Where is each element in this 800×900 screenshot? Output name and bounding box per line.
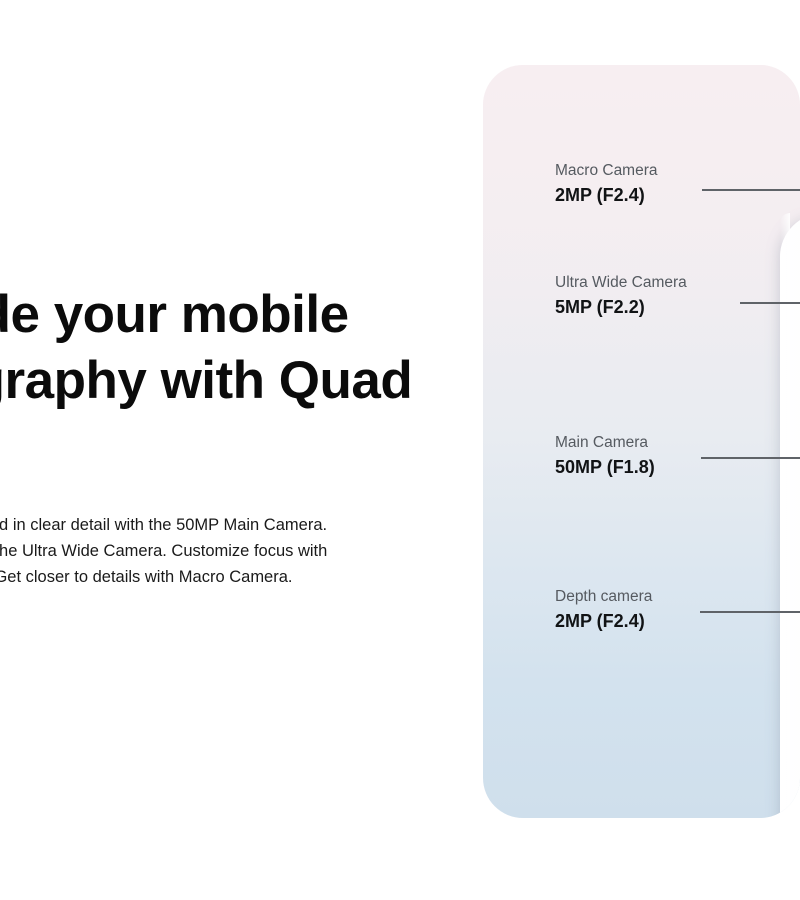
callout-title: Depth camera [555,587,652,607]
headline-line-1: Upgrade your mobile [0,282,440,348]
leader-line-main [701,457,800,459]
leader-line-ultra-wide [740,302,800,304]
body-line-3: Depth Camera. Get closer to details with… [0,564,438,590]
callout-value: 2MP (F2.4) [555,183,658,207]
callout-title: Ultra Wide Camera [555,273,687,293]
callout-depth-camera: Depth camera 2MP (F2.4) [555,587,652,633]
copy-block: Upgrade your mobile photography with Qua… [0,0,440,900]
callout-title: Macro Camera [555,161,658,181]
callout-macro-camera: Macro Camera 2MP (F2.4) [555,161,658,207]
body-paragraph: Capture the world in clear detail with t… [0,512,438,590]
leader-line-depth [700,611,800,613]
body-line-2: Fit more in with the Ultra Wide Camera. … [0,538,438,564]
callout-value: 50MP (F1.8) [555,455,655,479]
leader-line-macro [702,189,800,191]
panel-gradient-overlay [483,65,800,365]
callout-main-camera: Main Camera 50MP (F1.8) [555,433,655,479]
product-feature-page: Upgrade your mobile photography with Qua… [0,0,800,900]
callout-value: 5MP (F2.2) [555,295,687,319]
page-headline: Upgrade your mobile photography with Qua… [0,282,440,414]
body-line-1: Capture the world in clear detail with t… [0,512,438,538]
callout-value: 2MP (F2.4) [555,609,652,633]
callout-ultra-wide-camera: Ultra Wide Camera 5MP (F2.2) [555,273,687,319]
headline-line-2: photography with Quad [0,348,440,414]
callout-title: Main Camera [555,433,655,453]
product-image-panel: Macro Camera 2MP (F2.4) Ultra Wide Camer… [483,65,800,818]
